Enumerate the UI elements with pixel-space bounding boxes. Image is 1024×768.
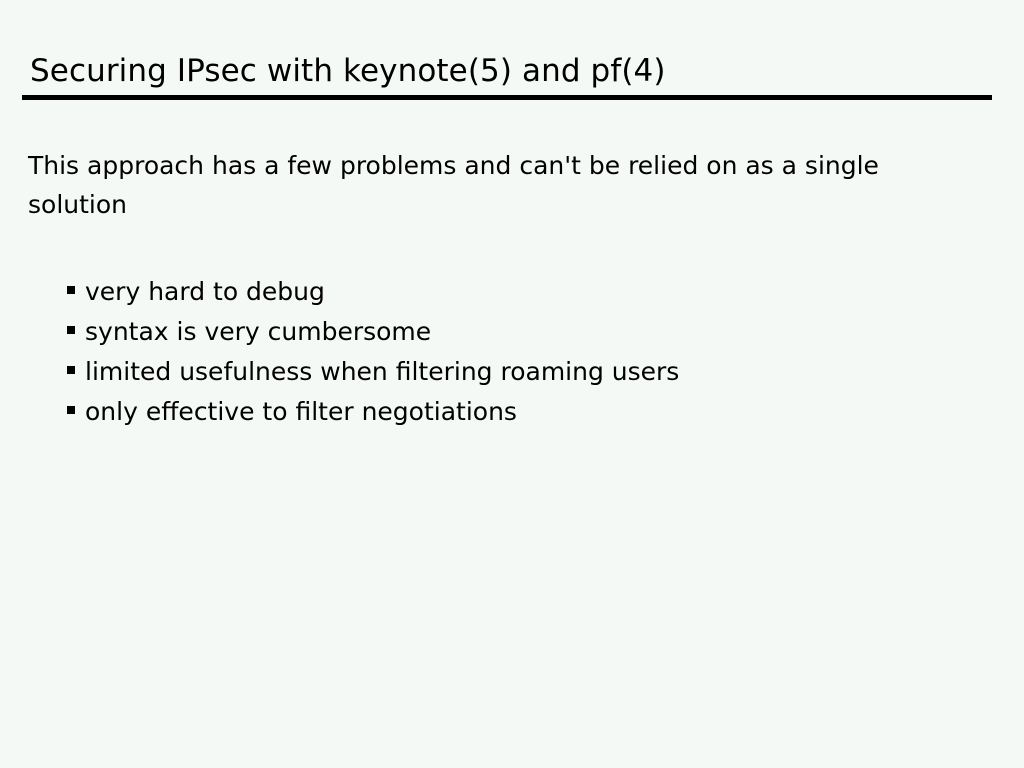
intro-paragraph: This approach has a few problems and can…: [28, 146, 908, 224]
square-bullet-icon: [67, 312, 85, 352]
list-item: syntax is very cumbersome: [67, 312, 679, 352]
square-bullet-icon: [67, 272, 85, 312]
square-bullet-icon: [67, 352, 85, 392]
list-item-label: syntax is very cumbersome: [85, 312, 431, 352]
title-underline-rule: [22, 95, 992, 100]
slide-body: This approach has a few problems and can…: [28, 146, 928, 224]
list-item-label: limited usefulness when filtering roamin…: [85, 352, 679, 392]
list-item-label: very hard to debug: [85, 272, 325, 312]
page-title: Securing IPsec with keynote(5) and pf(4): [30, 53, 666, 89]
list-item: very hard to debug: [67, 272, 679, 312]
bullet-list: very hard to debug syntax is very cumber…: [67, 272, 679, 432]
list-item: limited usefulness when filtering roamin…: [67, 352, 679, 392]
presentation-slide: Securing IPsec with keynote(5) and pf(4)…: [0, 0, 1024, 768]
list-item-label: only effective to filter negotiations: [85, 392, 517, 432]
square-bullet-icon: [67, 392, 85, 432]
list-item: only effective to filter negotiations: [67, 392, 679, 432]
